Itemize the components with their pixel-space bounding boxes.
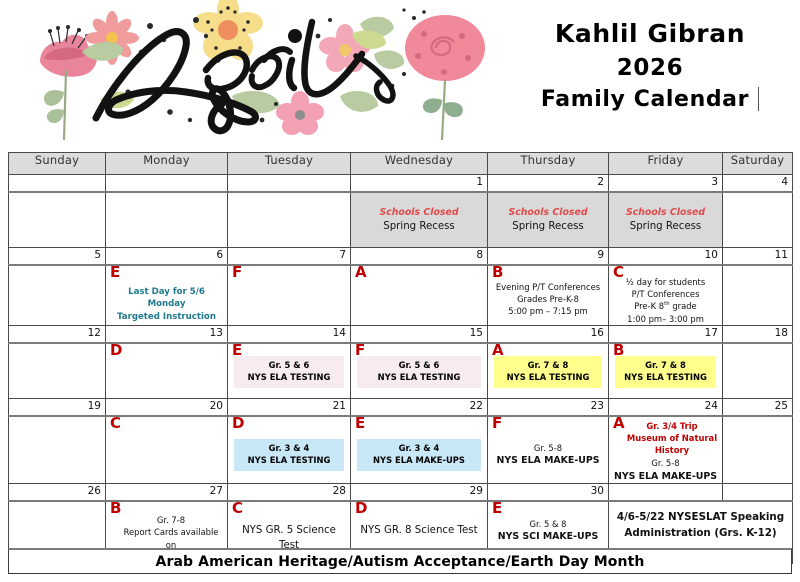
day-header-saturday: Saturday [723,153,793,175]
cycle-day-letter: E [232,343,242,358]
date-cell[interactable]: 12 [9,325,106,343]
week-3-dates: 12 13 14 15 16 17 18 [9,325,793,343]
grade-label: Gr. 7 & 8 [617,359,714,372]
testing-highlight-yellow: Gr. 7 & 8 NYS ELA TESTING [494,356,602,388]
day-cell-april-1[interactable]: Schools Closed Spring Recess [351,192,488,248]
date-cell[interactable]: 21 [228,398,351,416]
testing-highlight-pink: Gr. 5 & 6 NYS ELA TESTING [234,356,344,388]
date-cell[interactable]: 27 [106,484,228,502]
calendar-subtitle: Family Calendar [500,84,800,115]
day-cell-april-23[interactable]: F Gr. 5-8 NYS ELA MAKE-UPS [488,416,609,484]
title-block: Kahlil Gibran 2026 Family Calendar [500,0,800,115]
date-cell[interactable] [609,484,723,502]
day-cell-april-10[interactable]: C ½ day for students P/T Conferences Pre… [609,265,723,325]
date-cell[interactable]: 13 [106,325,228,343]
day-header-friday: Friday [609,153,723,175]
date-cell[interactable]: 17 [609,325,723,343]
nyseslat-line: 4/6-5/22 NYSESLAT Speaking [609,510,792,526]
day-cell-april-17[interactable]: B Gr. 7 & 8 NYS ELA TESTING [609,343,723,399]
date-cell[interactable]: 28 [228,484,351,502]
cycle-day-letter: D [232,416,244,431]
event-note-line: Targeted Instruction [109,311,224,323]
grade-label: Gr. 5 & 6 [236,359,342,372]
cycle-day-letter: B [613,343,624,358]
date-cell[interactable]: 29 [351,484,488,502]
day-cell-april-25[interactable] [723,416,793,484]
day-cell-april-14[interactable]: E Gr. 5 & 6 NYS ELA TESTING [228,343,351,399]
cycle-day-letter: C [110,416,121,431]
month-theme-text: Arab American Heritage/Autism Acceptance… [156,554,645,570]
cycle-day-letter: E [492,501,502,516]
grade-label: Gr. 5-8 [491,442,605,454]
date-cell[interactable]: 20 [106,398,228,416]
test-label: NYS ELA MAKE-UPS [491,454,605,468]
testing-highlight-blue: Gr. 3 & 4 NYS ELA MAKE-UPS [357,439,481,471]
cycle-day-letter: B [492,265,503,280]
day-cell-april-19[interactable] [9,416,106,484]
test-label: NYS ELA MAKE-UPS [359,454,479,467]
day-cell-april-6[interactable]: E Last Day for 5/6 Monday Targeted Instr… [106,265,228,325]
event-line: ½ day for students [612,276,719,288]
nyseslat-line: Administration (Grs. K-12) [609,526,792,542]
date-cell[interactable]: 5 [9,248,106,266]
date-cell[interactable]: 19 [9,398,106,416]
day-header-monday: Monday [106,153,228,175]
event-line: 1:00 pm– 3:00 pm [612,313,719,325]
date-cell[interactable]: 10 [609,248,723,266]
grade-label: Gr. 5 & 8 [491,518,605,530]
closed-label: Schools Closed [354,206,484,220]
cycle-day-letter: C [232,501,243,516]
day-cell-april-21[interactable]: D Gr. 3 & 4 NYS ELA TESTING [228,416,351,484]
day-cell-april-22[interactable]: E Gr. 3 & 4 NYS ELA MAKE-UPS [351,416,488,484]
week-1-dates: 1 2 3 4 [9,175,793,193]
month-theme-footer: Arab American Heritage/Autism Acceptance… [8,548,792,574]
week-4-content: C D Gr. 3 & 4 NYS ELA TESTING [9,416,793,484]
week-1-content: Schools Closed Spring Recess Schools Clo… [9,192,793,248]
text-cursor [758,87,759,111]
date-cell[interactable]: 2 [488,175,609,193]
day-cell-april-5[interactable] [9,265,106,325]
cycle-day-letter: F [355,343,365,358]
day-header-sunday: Sunday [9,153,106,175]
trip-location: Museum of Natural History [625,432,719,456]
event-line: P/T Conferences [612,288,719,300]
april-floral-banner [0,0,500,146]
testing-highlight-yellow: Gr. 7 & 8 NYS ELA TESTING [615,356,716,388]
day-cell-april-18[interactable] [723,343,793,399]
event-line: Grades Pre-K-8 [491,293,605,305]
closed-label: Schools Closed [491,206,605,220]
test-label: NYS ELA TESTING [617,371,714,384]
day-cell-april-11[interactable] [723,265,793,325]
school-name: Kahlil Gibran [500,16,800,52]
cycle-day-letter: D [110,343,122,358]
cycle-day-letter: A [355,265,367,280]
date-cell[interactable] [228,175,351,193]
day-cell-april-9[interactable]: B Evening P/T Conferences Grades Pre-K-8… [488,265,609,325]
testing-highlight-pink: Gr. 5 & 6 NYS ELA TESTING [357,356,481,388]
date-cell[interactable]: 18 [723,325,793,343]
date-cell[interactable] [9,175,106,193]
day-cell-april-13[interactable]: D [106,343,228,399]
day-header-tuesday: Tuesday [228,153,351,175]
day-cell-april-4[interactable] [723,192,793,248]
event-note-line: Last Day for 5/6 Monday [109,286,224,311]
date-cell[interactable] [723,484,793,502]
date-cell[interactable]: 6 [106,248,228,266]
date-cell[interactable]: 11 [723,248,793,266]
calendar-page: Kahlil Gibran 2026 Family Calendar Sunda… [0,0,800,582]
date-cell[interactable]: 25 [723,398,793,416]
calendar-grid: Sunday Monday Tuesday Wednesday Thursday… [8,152,792,564]
day-cell-april-12[interactable] [9,343,106,399]
date-cell[interactable]: 4 [723,175,793,193]
date-cell[interactable]: 7 [228,248,351,266]
day-cell-april-20[interactable]: C [106,416,228,484]
closed-label: Schools Closed [612,206,719,220]
date-cell[interactable]: 15 [351,325,488,343]
date-cell[interactable]: 16 [488,325,609,343]
day-cell-empty[interactable] [9,192,106,248]
test-label: NYS ELA TESTING [236,454,342,467]
date-cell[interactable]: 14 [228,325,351,343]
day-cell-empty[interactable] [106,192,228,248]
testing-highlight-blue: Gr. 3 & 4 NYS ELA TESTING [234,439,344,471]
date-cell[interactable]: 23 [488,398,609,416]
day-cell-april-7[interactable]: F [228,265,351,325]
day-cell-empty[interactable] [228,192,351,248]
date-cell[interactable]: 22 [351,398,488,416]
cycle-day-letter: A [613,416,625,431]
day-cell-april-2[interactable]: Schools Closed Spring Recess [488,192,609,248]
calendar-subtitle-text: Family Calendar [541,87,749,112]
date-cell[interactable]: 1 [351,175,488,193]
date-cell[interactable]: 8 [351,248,488,266]
test-label: NYS ELA TESTING [236,371,342,384]
date-cell[interactable]: 3 [609,175,723,193]
date-cell[interactable]: 26 [9,484,106,502]
grade-label: Gr. 5-8 [612,457,719,469]
page-header: Kahlil Gibran 2026 Family Calendar [0,0,800,146]
grade-label: Gr. 3 & 4 [236,442,342,455]
grade-label: Gr. 3 & 4 [359,442,479,455]
test-label: NYS ELA MAKE-UPS [612,470,719,484]
cycle-day-letter: A [492,343,504,358]
day-cell-april-3[interactable]: Schools Closed Spring Recess [609,192,723,248]
day-header-thursday: Thursday [488,153,609,175]
cycle-day-letter: F [232,265,242,280]
week-5-dates: 26 27 28 29 30 [9,484,793,502]
cycle-day-letter: D [355,501,367,516]
grade-label: Gr. 7-8 [118,514,224,526]
cycle-day-letter: F [492,416,502,431]
week-4-dates: 19 20 21 22 23 24 25 [9,398,793,416]
calendar-year: 2026 [500,52,800,85]
cycle-day-letter: B [110,501,121,516]
event-line: Evening P/T Conferences [491,281,605,293]
event-line: 5:00 pm – 7:15 pm [491,305,605,317]
event-label: Spring Recess [354,220,484,235]
week-2-content: E Last Day for 5/6 Monday Targeted Instr… [9,265,793,325]
cycle-day-letter: E [355,416,365,431]
day-cell-april-8[interactable]: A [351,265,488,325]
test-label: NYS SCI MAKE-UPS [491,530,605,544]
event-line: Pre-K 8th grade [612,300,719,312]
cycle-day-letter: E [110,265,120,280]
week-3-content: D E Gr. 5 & 6 NYS ELA TESTING [9,343,793,399]
week-2-dates: 5 6 7 8 9 10 11 [9,248,793,266]
grade-label: Gr. 5 & 6 [359,359,479,372]
day-cell-april-16[interactable]: A Gr. 7 & 8 NYS ELA TESTING [488,343,609,399]
test-label: NYS ELA TESTING [359,371,479,384]
event-label: Spring Recess [612,220,719,235]
day-header-wednesday: Wednesday [351,153,488,175]
day-cell-april-15[interactable]: F Gr. 5 & 6 NYS ELA TESTING [351,343,488,399]
date-cell[interactable]: 9 [488,248,609,266]
test-label: NYS GR. 8 Science Test [354,524,484,539]
trip-label: Gr. 3/4 Trip [625,420,719,432]
event-label: Spring Recess [491,220,605,235]
cycle-day-letter: C [613,265,624,280]
date-cell[interactable] [106,175,228,193]
date-cell[interactable]: 30 [488,484,609,502]
test-label: NYS ELA TESTING [496,371,600,384]
date-cell[interactable]: 24 [609,398,723,416]
day-cell-april-24[interactable]: A Gr. 3/4 Trip Museum of Natural History… [609,416,723,484]
grade-label: Gr. 7 & 8 [496,359,600,372]
